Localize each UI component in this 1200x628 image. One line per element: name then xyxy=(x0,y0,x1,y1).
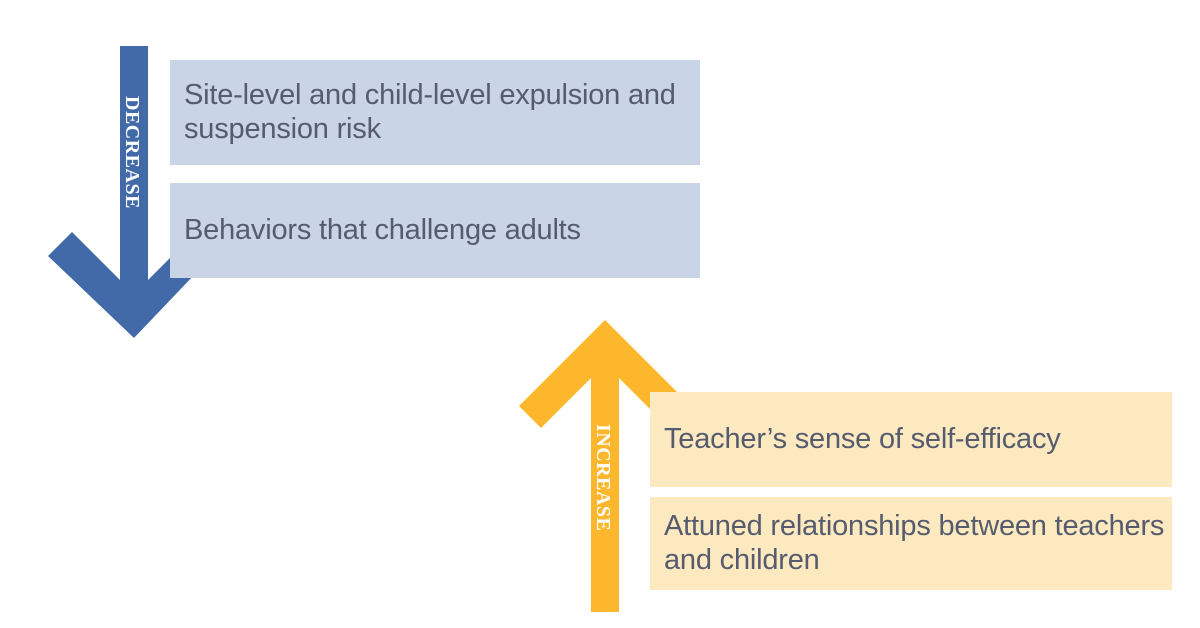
increase-arrow-label: INCREASE xyxy=(593,424,613,531)
decrease-item-label-2: Behaviors that challenge adults xyxy=(184,214,581,248)
decrease-item-box-1: Site-level and child-level expulsion and… xyxy=(170,60,700,165)
decrease-item-label-1: Site-level and child-level expulsion and… xyxy=(184,79,700,146)
increase-item-label-1: Teacher’s sense of self-efficacy xyxy=(664,423,1061,457)
increase-item-label-2: Attuned relationships between teachers a… xyxy=(664,510,1172,577)
increase-item-box-1: Teacher’s sense of self-efficacy xyxy=(650,392,1172,487)
diagram-canvas: DECREASE Site-level and child-level expu… xyxy=(0,0,1200,628)
decrease-arrow-label: DECREASE xyxy=(122,96,142,209)
decrease-item-box-2: Behaviors that challenge adults xyxy=(170,183,700,278)
increase-item-box-2: Attuned relationships between teachers a… xyxy=(650,497,1172,590)
